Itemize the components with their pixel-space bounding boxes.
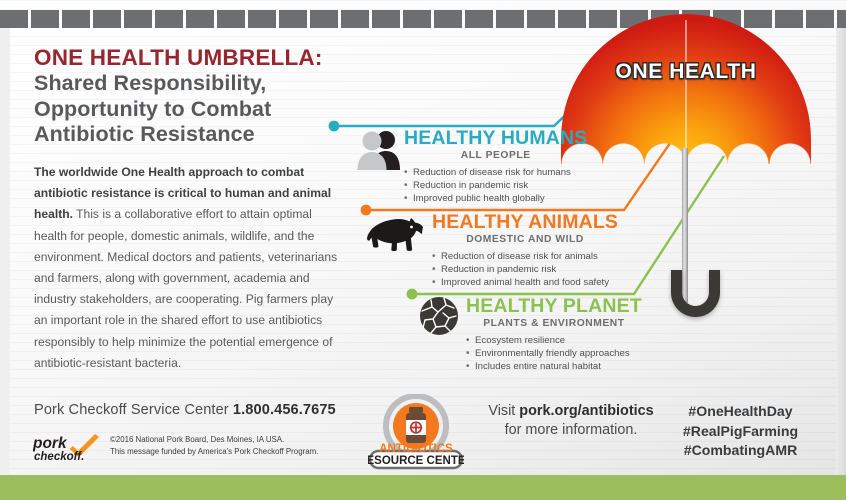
list-item: Includes entire natural habitat — [466, 360, 642, 373]
hashtag-item: #RealPigFarming — [653, 422, 828, 442]
list-item: Improved public health globally — [404, 192, 587, 205]
pillar-healthy-humans: HEALTHY HUMANS ALL PEOPLE Reduction of d… — [404, 128, 587, 206]
headline-line-3: Opportunity to Combat — [34, 97, 364, 123]
headline-line-2: Shared Responsibility, — [34, 71, 364, 97]
list-item: Reduction of disease risk for animals — [432, 250, 618, 263]
connector-dot-planet — [407, 289, 418, 300]
pillar-subtitle-planet: PLANTS & ENVIRONMENT — [466, 318, 642, 329]
visit-url[interactable]: pork.org/antibiotics — [519, 403, 653, 419]
hashtag-item: #CombatingAMR — [653, 441, 828, 461]
umbrella-rib-left — [623, 20, 686, 164]
visit-suffix: for more information. — [505, 422, 638, 438]
globe-icon — [419, 296, 459, 336]
umbrella-label: ONE HEALTH — [561, 60, 811, 84]
body-rest: This is a collaborative effort to attain… — [34, 207, 337, 369]
pig-icon — [366, 214, 428, 252]
infographic-poster: ONE HEALTH UMBRELLA: Shared Responsibili… — [0, 0, 846, 500]
pillar-bullets-planet: Ecosystem resilience Environmentally fri… — [466, 334, 642, 374]
legal-line-2: This message funded by America's Pork Ch… — [110, 446, 318, 458]
list-item: Ecosystem resilience — [466, 334, 642, 347]
umbrella-rib-right — [686, 20, 749, 164]
body-paragraph: The worldwide One Health approach to com… — [34, 162, 346, 374]
service-center-line: Pork Checkoff Service Center 1.800.456.7… — [34, 402, 336, 418]
bottom-green-bar — [0, 475, 846, 500]
service-center-phone: 1.800.456.7675 — [233, 402, 336, 418]
umbrella-canopy — [561, 14, 811, 164]
antibiotics-resource-center-badge[interactable]: ANTIBIOTICS RESOURCE CENTER — [368, 394, 464, 470]
pork-checkoff-logo: pork checkoff. — [33, 433, 105, 463]
left-edge-strip — [0, 28, 10, 475]
visit-cta: Visit pork.org/antibiotics for more info… — [476, 402, 666, 440]
people-icon — [356, 130, 402, 170]
list-item: Environmentally friendly approaches — [466, 347, 642, 360]
legal-line-1: ©2016 National Pork Board, Des Moines, I… — [110, 434, 318, 446]
pillar-bullets-humans: Reduction of disease risk for humans Red… — [404, 166, 587, 206]
hashtag-item: #OneHealthDay — [653, 402, 828, 422]
pillar-healthy-planet: HEALTHY PLANET PLANTS & ENVIRONMENT Ecos… — [466, 296, 642, 374]
hashtag-list: #OneHealthDay #RealPigFarming #Combating… — [653, 402, 828, 461]
page-title: ONE HEALTH UMBRELLA: Shared Responsibili… — [34, 45, 364, 148]
pillar-title-animals: HEALTHY ANIMALS — [432, 212, 618, 232]
list-item: Reduction in pandemic risk — [404, 179, 587, 192]
pillar-title-humans: HEALTHY HUMANS — [404, 128, 587, 148]
pillar-bullets-animals: Reduction of disease risk for animals Re… — [432, 250, 618, 290]
pillar-title-planet: HEALTHY PLANET — [466, 296, 642, 316]
logo-word-checkoff: checkoff. — [34, 451, 84, 463]
right-edge-strip — [836, 28, 846, 475]
pillar-subtitle-animals: DOMESTIC AND WILD — [432, 234, 618, 245]
legal-text: ©2016 National Pork Board, Des Moines, I… — [110, 434, 318, 457]
headline-line-1: ONE HEALTH UMBRELLA: — [34, 45, 364, 71]
badge-line-1: ANTIBIOTICS — [379, 443, 453, 455]
pillar-subtitle-humans: ALL PEOPLE — [404, 150, 587, 161]
headline-line-4: Antibiotic Resistance — [34, 122, 364, 148]
logo-word-pork: pork — [33, 435, 68, 452]
list-item: Reduction of disease risk for humans — [404, 166, 587, 179]
pillar-healthy-animals: HEALTHY ANIMALS DOMESTIC AND WILD Reduct… — [432, 212, 618, 290]
list-item: Improved animal health and food safety — [432, 276, 618, 289]
service-center-label: Pork Checkoff Service Center — [34, 402, 233, 418]
umbrella-handle-tip — [709, 270, 720, 282]
list-item: Reduction in pandemic risk — [432, 263, 618, 276]
badge-line-2: RESOURCE CENTER — [368, 455, 464, 467]
visit-prefix: Visit — [488, 403, 519, 419]
